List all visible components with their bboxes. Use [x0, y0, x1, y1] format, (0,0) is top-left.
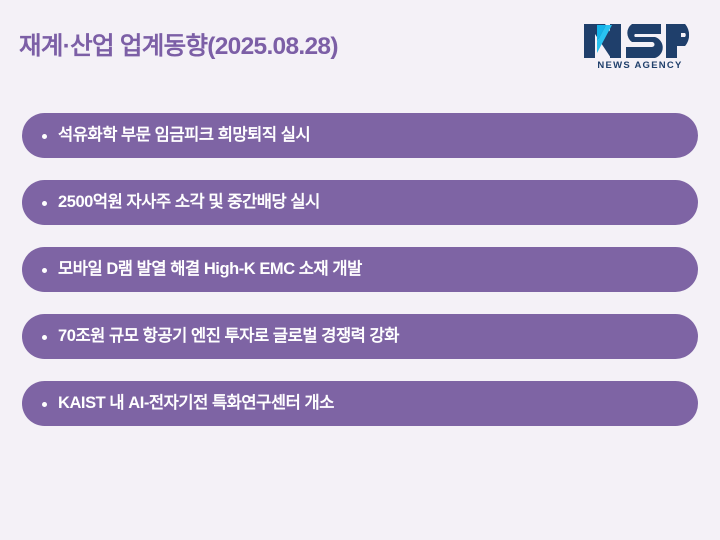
bullet-text: 70조원 규모 항공기 엔진 투자로 글로벌 경쟁력 강화	[58, 327, 698, 347]
page-title: 재계·산업 업계동향(2025.08.28)	[19, 33, 338, 61]
bullet-dot-icon	[42, 268, 47, 273]
bullet-pill-1[interactable]: 석유화학 부문 임금피크 희망퇴직 실시	[22, 113, 698, 158]
bullet-pill-3[interactable]: 모바일 D램 발열 해결 High-K EMC 소재 개발	[22, 247, 698, 292]
bullet-dot-icon	[42, 335, 47, 340]
nsp-logo: NEWS AGENCY	[582, 22, 698, 78]
bullet-text: KAIST 내 AI-전자기전 특화연구센터 개소	[58, 394, 698, 414]
bullet-text: 2500억원 자사주 소각 및 중간배당 실시	[58, 193, 698, 213]
slide-header: 재계·산업 업계동향(2025.08.28) NEWS AGENCY	[0, 0, 720, 95]
nsp-logo-tagline: NEWS AGENCY	[582, 60, 698, 72]
bullet-dot-icon	[42, 402, 47, 407]
bullet-dot-icon	[42, 201, 47, 206]
bullet-text: 모바일 D램 발열 해결 High-K EMC 소재 개발	[58, 260, 698, 280]
bullet-text: 석유화학 부문 임금피크 희망퇴직 실시	[58, 126, 698, 146]
bullet-pill-list: 석유화학 부문 임금피크 희망퇴직 실시 2500억원 자사주 소각 및 중간배…	[22, 113, 698, 426]
slide-canvas: 재계·산업 업계동향(2025.08.28) NEWS AGENCY	[0, 0, 720, 540]
nsp-wordmark-icon	[582, 22, 698, 60]
bullet-dot-icon	[42, 134, 47, 139]
bullet-pill-4[interactable]: 70조원 규모 항공기 엔진 투자로 글로벌 경쟁력 강화	[22, 314, 698, 359]
bullet-pill-5[interactable]: KAIST 내 AI-전자기전 특화연구센터 개소	[22, 381, 698, 426]
bullet-pill-2[interactable]: 2500억원 자사주 소각 및 중간배당 실시	[22, 180, 698, 225]
